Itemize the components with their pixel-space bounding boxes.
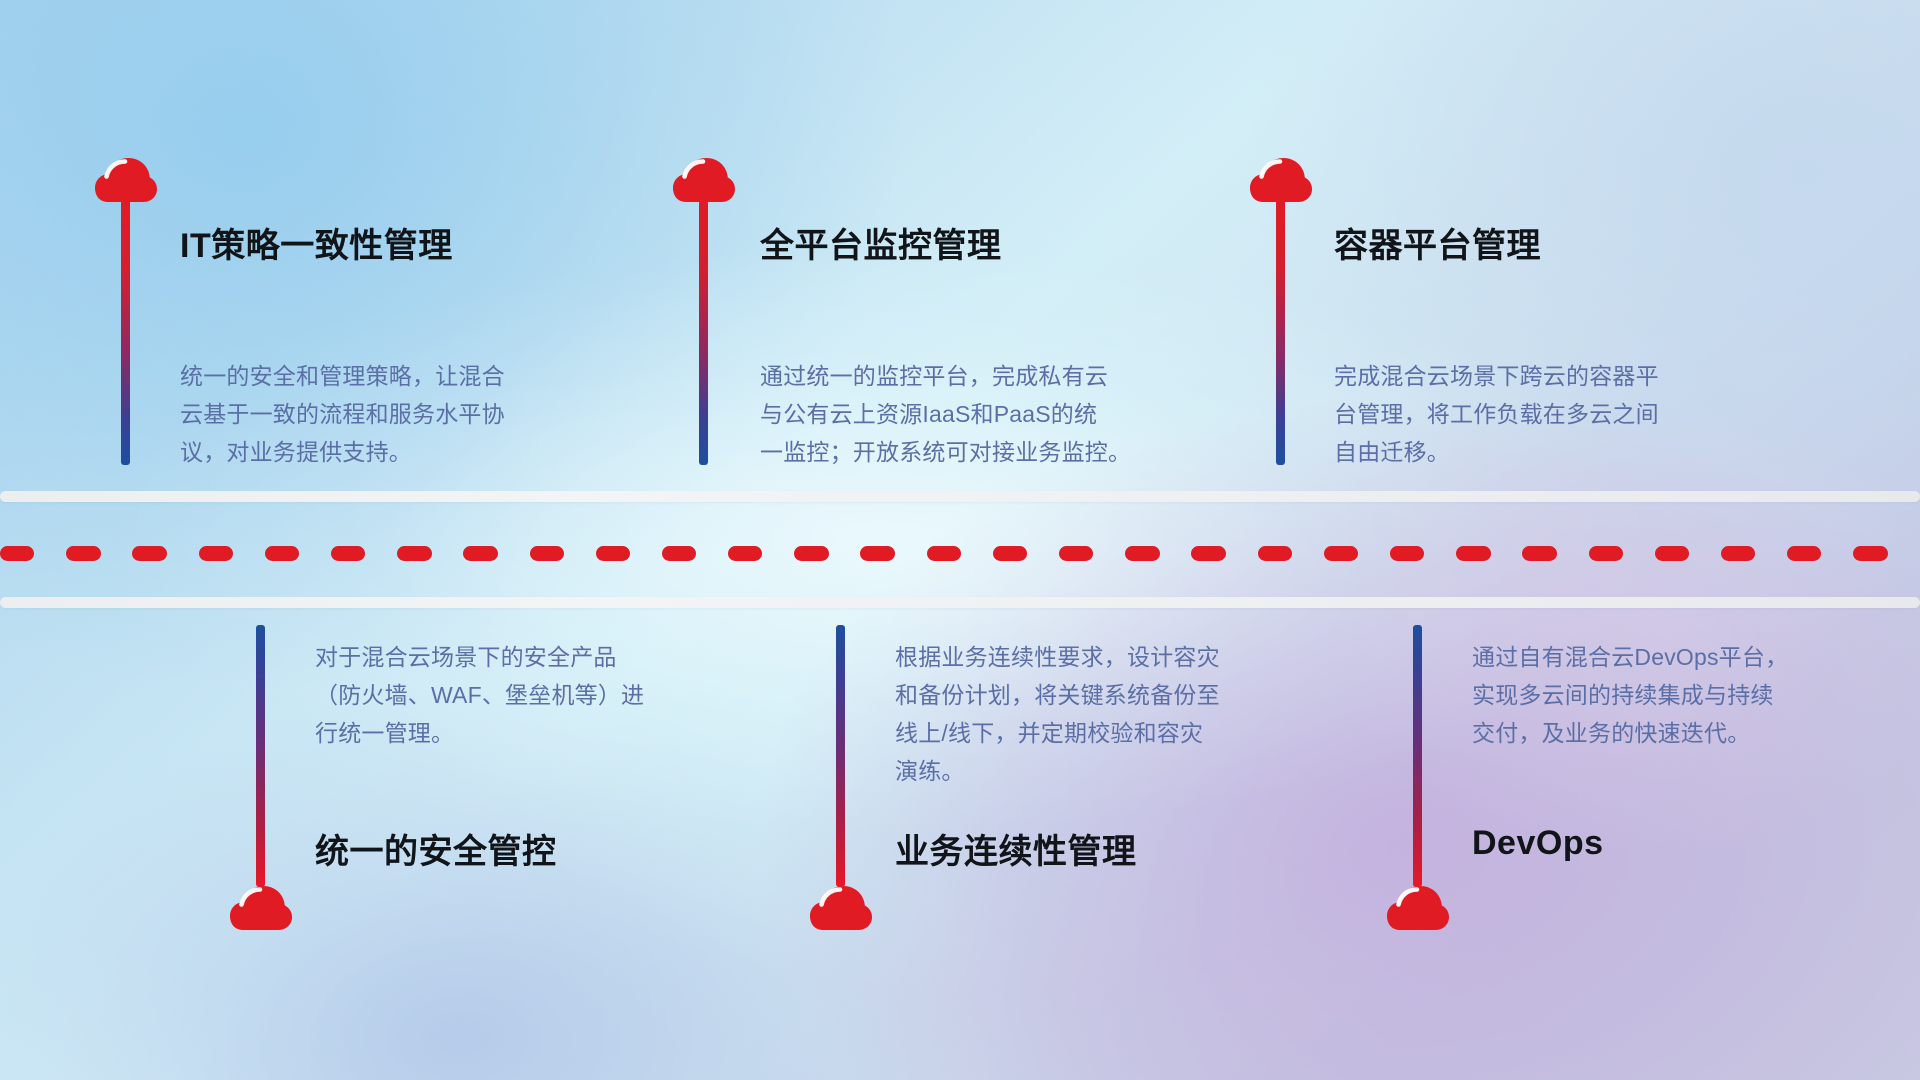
marker-pole — [1413, 625, 1422, 887]
road-center-dash — [1390, 546, 1424, 561]
road-center-line — [0, 545, 1920, 561]
road-center-dash — [397, 546, 431, 561]
road-center-dash — [1324, 546, 1358, 561]
road-center-dash — [1191, 546, 1225, 561]
road-edge-bottom — [0, 597, 1920, 608]
marker-pole — [836, 625, 845, 887]
marker-pole — [121, 200, 130, 465]
road-center-dash — [331, 546, 365, 561]
road-center-dash — [728, 546, 762, 561]
cloud-icon — [1387, 886, 1449, 932]
card-heading: 业务连续性管理 — [895, 824, 1137, 873]
road-center-dash — [1456, 546, 1490, 561]
road-center-dash — [794, 546, 828, 561]
road-center-dash — [596, 546, 630, 561]
road-center-dash — [199, 546, 233, 561]
card-paragraph: 通过统一的监控平台，完成私有云 与公有云上资源IaaS和PaaS的统 一监控；开… — [760, 357, 1220, 471]
card-paragraph: 完成混合云场景下跨云的容器平 台管理，将工作负载在多云之间 自由迁移。 — [1334, 357, 1784, 471]
road-center-dash — [1787, 546, 1821, 561]
road-center-dash — [530, 546, 564, 561]
road-center-dash — [1853, 546, 1887, 561]
card-paragraph: 统一的安全和管理策略，让混合 云基于一致的流程和服务水平协 议，对业务提供支持。 — [180, 357, 620, 471]
road-center-dash — [1721, 546, 1755, 561]
cloud-icon — [1250, 158, 1312, 204]
road-center-dash — [860, 546, 894, 561]
cloud-icon — [95, 158, 157, 204]
card-heading: 全平台监控管理 — [760, 218, 1002, 267]
card-paragraph: 通过自有混合云DevOps平台， 实现多云间的持续集成与持续 交付，及业务的快速… — [1472, 638, 1902, 752]
marker-pole — [699, 200, 708, 465]
marker-pole — [1276, 200, 1285, 465]
road-center-dash — [1589, 546, 1623, 561]
road-center-dash — [993, 546, 1027, 561]
card-paragraph: 对于混合云场景下的安全产品 （防火墙、WAF、堡垒机等）进 行统一管理。 — [315, 638, 745, 752]
road-center-dash — [265, 546, 299, 561]
road-center-dash — [66, 546, 100, 561]
card-heading: 统一的安全管控 — [315, 824, 557, 873]
cloud-icon — [673, 158, 735, 204]
road-center-dash — [1125, 546, 1159, 561]
card-heading: DevOps — [1472, 824, 1604, 863]
road-center-dash — [1059, 546, 1093, 561]
card-heading: IT策略一致性管理 — [180, 218, 453, 267]
card-heading: 容器平台管理 — [1334, 218, 1541, 267]
road-center-dash — [0, 546, 34, 561]
road-center-dash — [927, 546, 961, 561]
road-center-dash — [1655, 546, 1689, 561]
road-center-dash — [463, 546, 497, 561]
card-paragraph: 根据业务连续性要求，设计容灾 和备份计划，将关键系统备份至 线上/线下，并定期校… — [895, 638, 1335, 790]
marker-pole — [256, 625, 265, 887]
road-center-dash — [1522, 546, 1556, 561]
road-center-dash — [132, 546, 166, 561]
road-center-dash — [1258, 546, 1292, 561]
road-center-dash — [662, 546, 696, 561]
cloud-icon — [810, 886, 872, 932]
cloud-icon — [230, 886, 292, 932]
road-edge-top — [0, 491, 1920, 502]
